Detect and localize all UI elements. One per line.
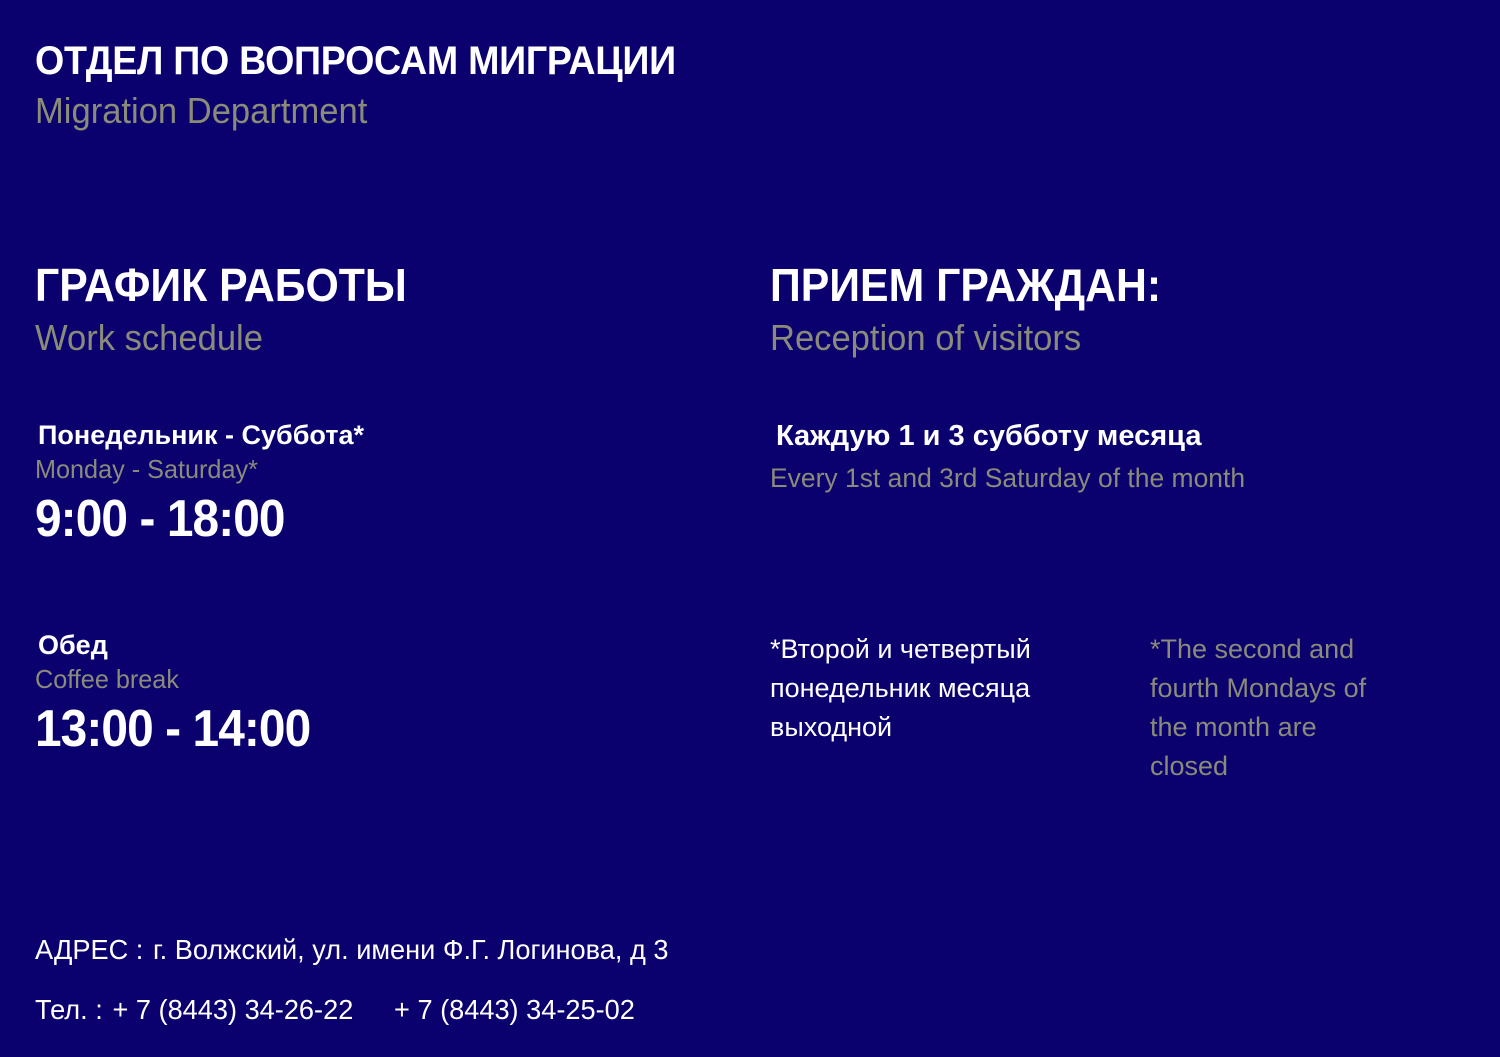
phone-label: Тел. : — [35, 994, 103, 1025]
schedule-poster: ОТДЕЛ ПО ВОПРОСАМ МИГРАЦИИ Migration Dep… — [0, 0, 1500, 1057]
schedule-entry-label-ru: Обед — [38, 630, 334, 661]
schedule-entry-time: 13:00 - 14:00 — [35, 701, 310, 757]
reception-schedule-ru: Каждую 1 и 3 субботу месяца — [776, 420, 1255, 453]
org-title-en: Migration Department — [35, 92, 995, 130]
schedule-entry-label-en: Monday - Saturday* — [35, 455, 354, 485]
footer-contacts: АДРЕС :г. Волжский, ул. имени Ф.Г. Логин… — [35, 933, 1235, 1027]
phone-number-2[interactable]: + 7 (8443) 34-25-02 — [394, 994, 635, 1025]
work-schedule-heading-ru: ГРАФИК РАБОТЫ — [35, 262, 686, 309]
org-title-ru: ОТДЕЛ ПО ВОПРОСАМ МИГРАЦИИ — [35, 40, 975, 82]
work-schedule-heading-en: Work schedule — [35, 319, 707, 357]
address-line: АДРЕС :г. Волжский, ул. имени Ф.Г. Логин… — [35, 933, 1199, 967]
masthead: ОТДЕЛ ПО ВОПРОСАМ МИГРАЦИИ Migration Dep… — [35, 40, 1035, 130]
address-value: г. Волжский, ул. имени Ф.Г. Логинова, д … — [153, 934, 668, 965]
phone-line: Тел. :+ 7 (8443) 34-26-22+ 7 (8443) 34-2… — [35, 993, 1199, 1027]
reception-column: ПРИЕМ ГРАЖДАН: Reception of visitors Каж… — [770, 262, 1470, 357]
reception-note-ru: *Второй и четвертый понедельник месяца в… — [770, 630, 1120, 747]
schedule-entry-weekdays: Понедельник - Суббота* Monday - Saturday… — [35, 420, 364, 547]
schedule-entry-label-ru: Понедельник - Суббота* — [38, 420, 364, 451]
schedule-entry-break: Обед Coffee break 13:00 - 14:00 — [35, 630, 334, 757]
work-schedule-column: ГРАФИК РАБОТЫ Work schedule Понедельник … — [35, 262, 735, 357]
schedule-entry-time: 9:00 - 18:00 — [35, 491, 338, 547]
reception-heading-en: Reception of visitors — [770, 319, 1442, 357]
address-label: АДРЕС : — [35, 934, 143, 965]
reception-note-en: *The second and fourth Mondays of the mo… — [1150, 630, 1400, 787]
schedule-entry-label-en: Coffee break — [35, 665, 325, 695]
reception-heading-ru: ПРИЕМ ГРАЖДАН: — [770, 262, 1421, 309]
phone-number-1[interactable]: + 7 (8443) 34-26-22 — [112, 994, 353, 1025]
reception-footnotes: *Второй и четвертый понедельник месяца в… — [770, 630, 1470, 787]
reception-schedule: Каждую 1 и 3 субботу месяца Every 1st an… — [770, 420, 1255, 494]
reception-schedule-en: Every 1st and 3rd Saturday of the month — [770, 463, 1245, 494]
